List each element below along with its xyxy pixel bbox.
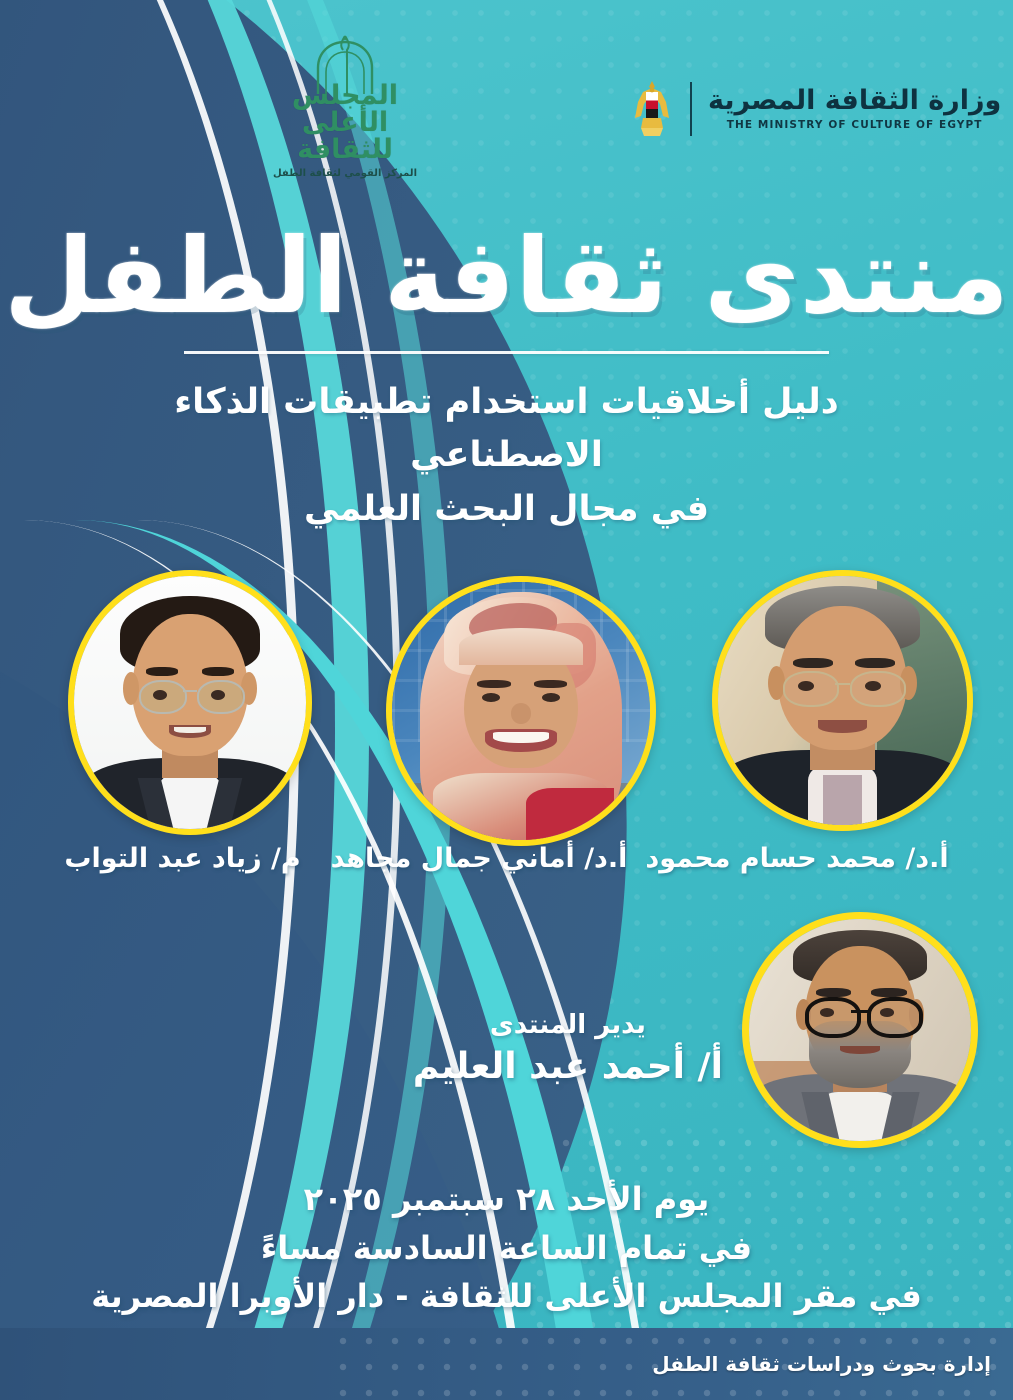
speaker-photo-ziad-abdeltawab [712, 570, 973, 831]
moderator-label: يدير المنتدى [413, 1010, 723, 1040]
moderator-photo-ahmed-abdelalim [742, 912, 978, 1148]
ministry-of-culture-logo: وزارة الثقافة المصرية THE MINISTRY OF CU… [630, 78, 1001, 140]
speaker-photo-amany-gamal [386, 576, 656, 846]
moderator-block: يدير المنتدى أ/ أحمد عبد العليم [413, 1010, 723, 1087]
event-venue: في مقر المجلس الأعلى للثقافة - دار الأوب… [0, 1272, 1013, 1321]
title-divider [184, 351, 829, 354]
egypt-eagle-emblem-icon [630, 78, 674, 140]
logo-subtitle: المركز القومي لثقافة الطفل [255, 168, 435, 179]
subtitle-block: دليل أخلاقيات استخدام تطبيقات الذكاء الا… [87, 376, 927, 536]
ministry-arabic-name: وزارة الثقافة المصرية [708, 87, 1001, 115]
poster-header: المجلس الأعلى للثقافة المركز القومي لثقا… [0, 0, 1013, 180]
speaker-name-1: أ.د/ محمد حسام محمود [645, 843, 948, 874]
footer-department-label: إدارة بحوث ودراسات ثقافة الطفل [652, 1352, 991, 1376]
speaker-name-3: م/ زياد عبد التواب [64, 843, 300, 874]
event-date: يوم الأحد ٢٨ سبتمبر ٢٠٢٥ [0, 1175, 1013, 1224]
moderator-name: أ/ أحمد عبد العليم [413, 1046, 723, 1087]
ministry-text-block: وزارة الثقافة المصرية THE MINISTRY OF CU… [708, 87, 1001, 130]
national-center-child-culture-logo: المجلس الأعلى للثقافة المركز القومي لثقا… [255, 34, 435, 179]
subtitle-line-2: في مجال البحث العلمي [87, 483, 927, 536]
event-time: في تمام الساعة السادسة مساءً [0, 1224, 1013, 1273]
logo-arabic-wordmark: المجلس الأعلى للثقافة [255, 82, 435, 163]
logo-divider [690, 82, 692, 136]
subtitle-line-1: دليل أخلاقيات استخدام تطبيقات الذكاء الا… [87, 376, 927, 482]
speaker-photo-mohamed-hossam [68, 570, 312, 835]
ministry-english-name: THE MINISTRY OF CULTURE OF EGYPT [708, 119, 1001, 131]
event-poster: المجلس الأعلى للثقافة المركز القومي لثقا… [0, 0, 1013, 1400]
footer-bar: إدارة بحوث ودراسات ثقافة الطفل [0, 1328, 1013, 1400]
speaker-name-2: أ.د/ أماني جمال مجاهد [331, 843, 628, 874]
speaker-names-row: أ.د/ محمد حسام محمود أ.د/ أماني جمال مجا… [0, 843, 1013, 874]
speakers-photo-row [0, 560, 1013, 860]
main-title: منتدى ثقافة الطفل [0, 222, 1013, 331]
title-block: منتدى ثقافة الطفل دليل أخلاقيات استخدام … [0, 222, 1013, 536]
event-details-block: يوم الأحد ٢٨ سبتمبر ٢٠٢٥ في تمام الساعة … [0, 1175, 1013, 1321]
